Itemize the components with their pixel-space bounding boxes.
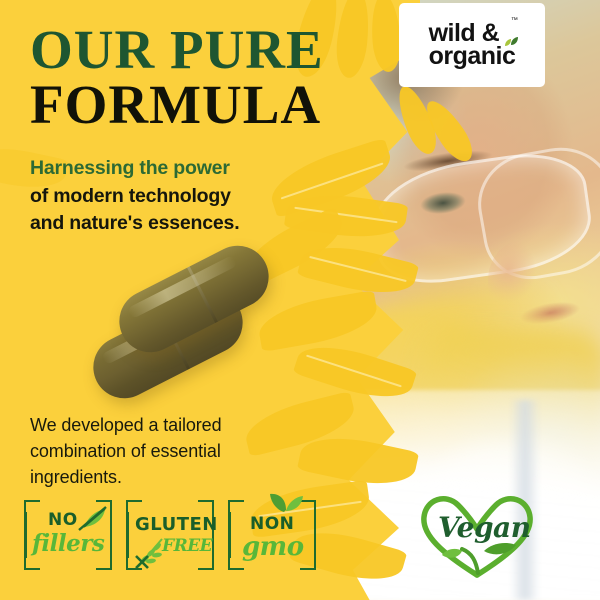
badge-no-fillers: NO fillers: [24, 500, 112, 570]
brand-logo[interactable]: wild &™ organic: [399, 3, 545, 87]
subheading-line-2: of modern technology: [30, 183, 320, 211]
badge-no-fillers-word-2: fillers: [32, 530, 104, 557]
crossed-leaf-icon: [76, 506, 108, 532]
vegan-label: Vegan: [438, 511, 531, 544]
badge-non-gmo: NON gmo: [228, 500, 316, 570]
leaf-icon: [264, 490, 304, 516]
body-copy-line-2: combination of essential: [30, 438, 300, 464]
badge-gluten-free-word-1: GLUTEN: [135, 514, 218, 535]
headline-line-1: OUR PURE: [30, 24, 370, 77]
body-copy-line-1: We developed a tailored: [30, 412, 300, 438]
trademark-symbol: ™: [511, 18, 518, 25]
leaf-icon: [499, 36, 519, 59]
badge-no-fillers-word-1: NO: [48, 510, 78, 530]
badge-non-gmo-word-1: NON: [250, 514, 294, 534]
badge-non-gmo-word-2: gmo: [242, 532, 304, 562]
subheading-line-3: and nature's essences.: [30, 210, 320, 238]
subheading-line-1: Harnessing the power: [30, 155, 320, 183]
subheading: Harnessing the power of modern technolog…: [30, 155, 320, 238]
badge-gluten-free: GLUTEN FREE: [126, 500, 214, 570]
product-poster: OUR PURE FORMULA Harnessing the power of…: [0, 0, 600, 600]
vegan-badge: Vegan: [412, 487, 542, 587]
body-copy-line-3: ingredients.: [30, 464, 300, 490]
certification-badges: NO fillers GLUTEN FREE: [24, 500, 316, 570]
crossed-wheat-icon: [132, 534, 172, 570]
capsule-product-image: [88, 268, 278, 393]
headline-line-2: FORMULA: [30, 79, 370, 132]
body-copy: We developed a tailored combination of e…: [30, 412, 300, 490]
page-title: OUR PURE FORMULA: [30, 24, 370, 132]
